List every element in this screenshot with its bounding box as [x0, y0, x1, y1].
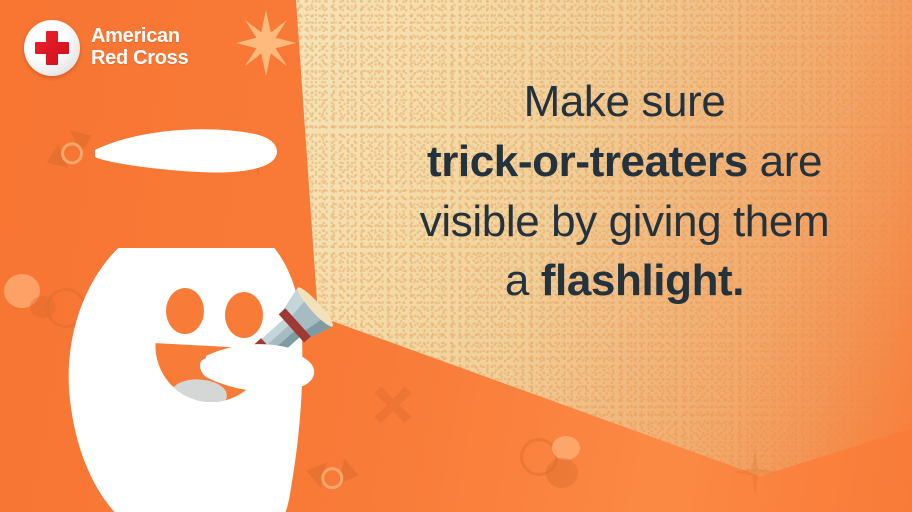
x-mark-icon — [372, 384, 414, 426]
headline-line-4-head: a — [505, 256, 541, 305]
headline-line-2-tail: are — [748, 137, 822, 186]
sparkle-star-large-icon — [236, 10, 296, 76]
dot-dark-icon — [546, 458, 578, 488]
headline-line-4: a flashlight. — [352, 251, 897, 311]
ghost-arm — [95, 122, 281, 198]
candy-wrapped-icon — [40, 125, 101, 176]
headline-emphasis-trick-or-treaters: trick-or-treaters — [427, 137, 748, 186]
headline: Make sure trick-or-treaters are visible … — [352, 72, 897, 311]
brand-name-line1: American — [91, 26, 188, 48]
headline-line-3: visible by giving them — [352, 192, 897, 252]
sparkle-small-icon — [734, 448, 776, 496]
dot-dark-icon — [30, 296, 56, 318]
headline-line-3-text: visible by giving them — [420, 197, 829, 246]
headline-emphasis-flashlight: flashlight. — [541, 256, 744, 305]
headline-line-1: Make sure — [352, 72, 897, 132]
headline-line-2: trick-or-treaters are — [352, 132, 897, 192]
headline-line-1-text: Make sure — [524, 77, 726, 126]
american-red-cross-logo[interactable]: American Red Cross — [24, 20, 188, 76]
ghost-hand — [200, 330, 320, 406]
dot-light-icon — [552, 436, 580, 460]
ghost-eye-left — [166, 288, 204, 334]
red-cross-in-circle-icon — [24, 20, 80, 76]
brand-name: American Red Cross — [91, 26, 188, 69]
poster-canvas: American Red Cross Make sure trick-or-tr… — [0, 0, 912, 512]
red-cross-glyph — [35, 31, 69, 65]
brand-name-line2: Red Cross — [91, 48, 188, 70]
